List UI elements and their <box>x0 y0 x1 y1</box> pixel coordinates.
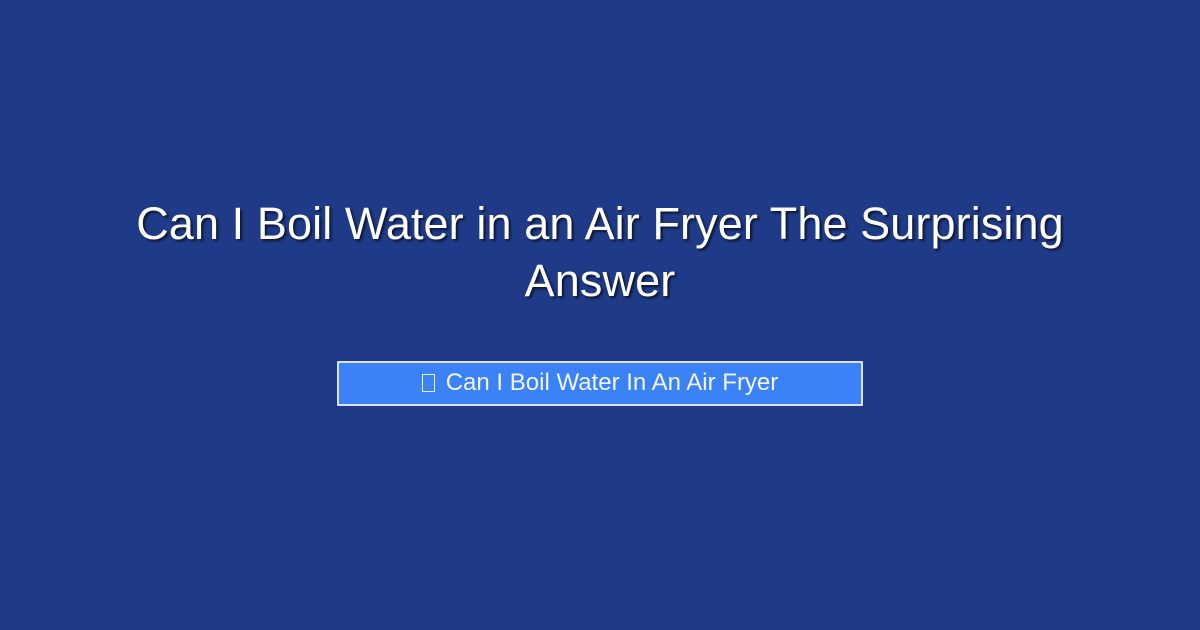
og-card: Can I Boil Water in an Air Fryer The Sur… <box>0 0 1200 630</box>
card-content: Can I Boil Water in an Air Fryer The Sur… <box>70 195 1130 406</box>
badge-row: Can I Boil Water In An Air Fryer <box>337 361 863 406</box>
topic-badge-label: Can I Boil Water In An Air Fryer <box>446 371 779 395</box>
missing-glyph-box-icon <box>422 374 435 392</box>
page-title: Can I Boil Water in an Air Fryer The Sur… <box>95 195 1105 309</box>
topic-badge[interactable]: Can I Boil Water In An Air Fryer <box>337 361 863 406</box>
